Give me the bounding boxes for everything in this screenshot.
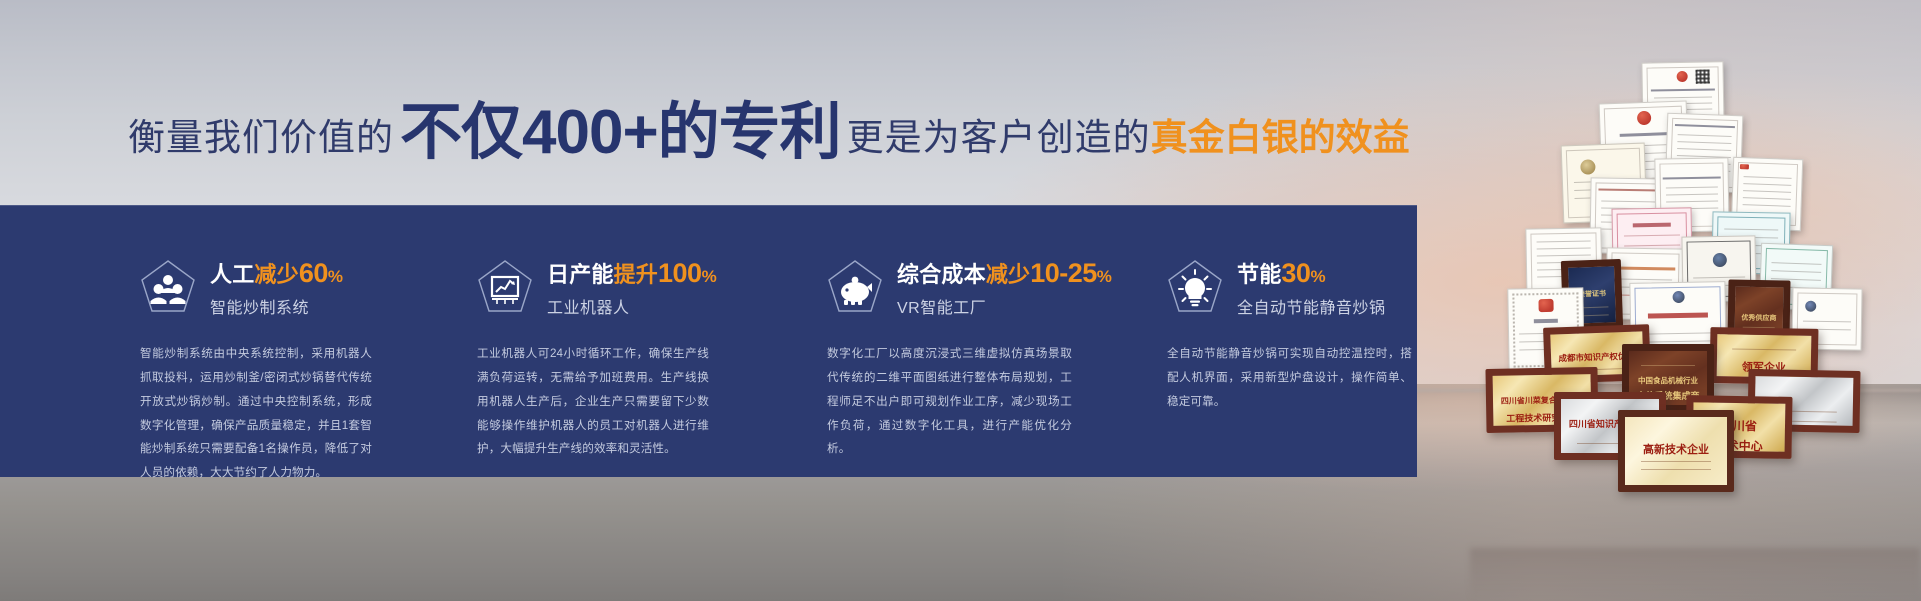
piggy-bank-icon	[827, 259, 883, 319]
feature-body: 数字化工厂以高度沉浸式三维虚拟仿真场景取代传统的二维平面图纸进行整体布局规划，工…	[827, 342, 1072, 461]
lightbulb-icon	[1167, 259, 1223, 319]
feature-item: 节能30% 全自动节能静音炒锅 全自动节能静音炒锅可实现自动控温控时，搭配人机界…	[1167, 257, 1467, 477]
plaque-text: 高新技术企业	[1633, 441, 1719, 457]
feature-body: 全自动节能静音炒锅可实现自动控温控时，搭配人机界面，采用新型炉盘设计，操作简单、…	[1167, 342, 1412, 413]
headline: 衡量我们价值的 不仅400+的专利 更是为客户创造的 真金白银的效益	[128, 78, 1410, 168]
feature-title: 人工减少60%	[210, 259, 343, 287]
headline-part-2-emphasis: 不仅400+的专利	[400, 81, 841, 171]
headline-part-1: 衡量我们价值的	[128, 107, 394, 161]
feature-title-unit: %	[702, 267, 717, 286]
feature-title-highlight: 减少	[254, 262, 298, 287]
feature-title-number: 10-25	[1030, 258, 1097, 288]
certificate-and-award-wall: 荣誉证书 优秀供应商 成都市知识产权优势单位	[1470, 40, 1920, 550]
feature-title-unit: %	[1310, 267, 1325, 286]
feature-body: 智能炒制系统由中央系统控制，采用机器人抓取投料，运用炒制釜/密闭式炒锅替代传统开…	[140, 342, 372, 485]
feature-subtitle: 工业机器人	[547, 294, 717, 318]
headline-part-4-accent: 真金白银的效益	[1151, 107, 1410, 161]
feature-title: 综合成本减少10-25%	[897, 259, 1112, 287]
feature-subtitle: 智能炒制系统	[210, 294, 343, 318]
feature-item: 人工减少60% 智能炒制系统 智能炒制系统由中央系统控制，采用机器人抓取投料，运…	[140, 257, 440, 477]
feature-body: 工业机器人可24小时循环工作，确保生产线满负荷运转，无需给予加班费用。生产线换用…	[477, 342, 709, 461]
feature-title-prefix: 人工	[210, 262, 254, 287]
feature-title: 日产能提升100%	[547, 259, 717, 287]
feature-title-number: 100	[658, 258, 702, 288]
plaque-text: 优秀供应商	[1739, 313, 1780, 324]
feature-item: 综合成本减少10-25% VR智能工厂 数字化工厂以高度沉浸式三维虚拟仿真场景取…	[827, 257, 1137, 477]
feature-title-number: 60	[299, 258, 328, 288]
plaque-text: 中国食品机械行业	[1635, 375, 1701, 386]
feature-title-unit: %	[328, 267, 343, 286]
headline-part-3: 更是为客户创造的	[847, 107, 1151, 161]
feature-title-highlight: 提升	[614, 262, 658, 287]
feature-title-unit: %	[1097, 267, 1112, 286]
banner-stage: 衡量我们价值的 不仅400+的专利 更是为客户创造的 真金白银的效益	[0, 0, 1921, 601]
feature-title: 节能30%	[1237, 259, 1386, 287]
wall-reflection	[1470, 548, 1920, 601]
feature-title-prefix: 节能	[1237, 262, 1281, 287]
feature-title-prefix: 综合成本	[897, 262, 986, 287]
chart-board-icon	[477, 259, 533, 319]
feature-subtitle: VR智能工厂	[897, 294, 1112, 318]
people-group-icon	[140, 259, 196, 319]
features-panel: 人工减少60% 智能炒制系统 智能炒制系统由中央系统控制，采用机器人抓取投料，运…	[0, 205, 1417, 477]
feature-subtitle: 全自动节能静音炒锅	[1237, 294, 1386, 318]
award-plaque-front: 高新技术企业	[1618, 410, 1734, 492]
feature-item: 日产能提升100% 工业机器人 工业机器人可24小时循环工作，确保生产线满负荷运…	[477, 257, 777, 477]
feature-title-prefix: 日产能	[547, 262, 614, 287]
feature-title-highlight: 减少	[986, 262, 1030, 287]
feature-title-number: 30	[1281, 258, 1310, 288]
